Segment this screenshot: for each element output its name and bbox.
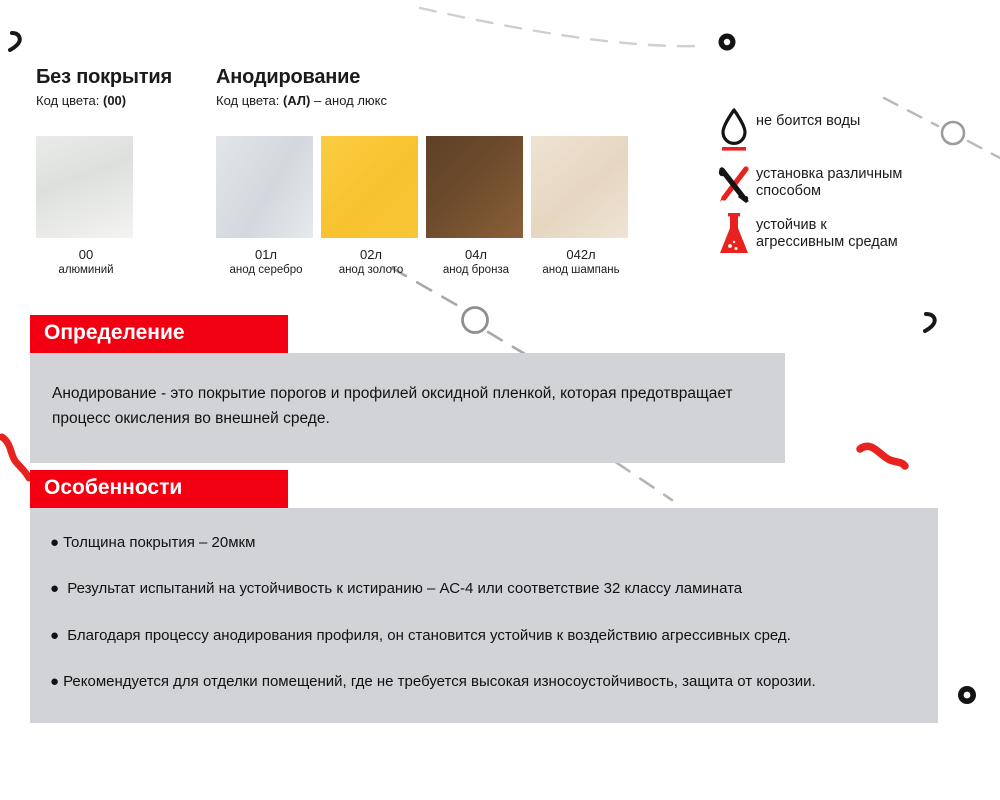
ring-dot-bottom (958, 686, 976, 704)
bullet-icon: ● (50, 534, 59, 551)
swatch-gold-icon (321, 136, 418, 238)
feature-item: ●Толщина покрытия – 20мкм (50, 530, 918, 556)
infographic-page: Без покрытия Код цвета: (00) Анодировани… (0, 0, 1000, 800)
feature-item: ● Результат испытаний на устойчивость к … (50, 576, 918, 602)
swatch-champagne-icon (531, 136, 628, 238)
features-header: Особенности (30, 470, 288, 508)
legend-label: не боится воды (756, 108, 860, 130)
bullet-icon: ● (50, 673, 59, 690)
comma-mark-topleft (10, 33, 20, 50)
group-uncoated: Без покрытия Код цвета: (00) (36, 66, 172, 108)
group-code-label: Код цвета: (216, 93, 279, 108)
swatch-item[interactable]: 042л анод шампань (531, 136, 631, 276)
swatch-silver-icon (216, 136, 313, 238)
water-drop-icon (712, 108, 756, 152)
swatch-item[interactable]: 00 алюминий (36, 136, 136, 276)
group-code-anodized: Код цвета: (АЛ) – анод люкс (216, 93, 387, 108)
swatch-item[interactable]: 02л анод золото (321, 136, 421, 276)
swatch-code: 02л (321, 247, 421, 262)
group-code-suffix: – анод люкс (310, 93, 387, 108)
swatch-bronze-icon (426, 136, 523, 238)
group-title-anodized: Анодирование (216, 66, 387, 89)
group-anodized: Анодирование Код цвета: (АЛ) – анод люкс (216, 66, 387, 108)
comma-mark-right (925, 314, 935, 331)
swatch-name: анод бронза (426, 264, 526, 276)
definition-body: Анодирование - это покрытие порогов и пр… (30, 353, 785, 463)
swatch-item[interactable]: 04л анод бронза (426, 136, 526, 276)
bullet-icon: ● (50, 580, 59, 597)
feature-item: ● Благодаря процессу анодирования профил… (50, 623, 918, 649)
group-code-label: Код цвета: (36, 93, 99, 108)
feature-text: Результат испытаний на устойчивость к ис… (63, 580, 742, 597)
feature-text: Толщина покрытия – 20мкм (63, 534, 255, 551)
ring-gray-right (942, 122, 964, 144)
legend-label: установка различным способом (756, 164, 902, 200)
legend-item-water: не боится воды (712, 108, 860, 152)
group-code-value: (АЛ) (283, 93, 310, 108)
swatch-name: анод золото (321, 264, 421, 276)
swatch-code: 00 (36, 247, 136, 262)
crossed-tools-icon (712, 164, 756, 204)
ring-dot-top (719, 34, 736, 51)
swatch-name: анод серебро (216, 264, 316, 276)
swatch-item[interactable]: 01л анод серебро (216, 136, 316, 276)
swatch-code: 04л (426, 247, 526, 262)
feature-item: ●Рекомендуется для отделки помещений, гд… (50, 669, 918, 695)
legend-label: устойчив к агрессивным средам (756, 213, 898, 251)
dashed-line-right-a (884, 98, 938, 126)
swatch-code: 01л (216, 247, 316, 262)
swatch-row-anodized: 01л анод серебро 02л анод золото 04л ано… (216, 136, 631, 276)
red-squiggle-right (860, 446, 905, 466)
swatch-row-uncoated: 00 алюминий (36, 136, 136, 276)
swatch-aluminium-icon (36, 136, 133, 238)
section-definition: Определение Анодирование - это покрытие … (30, 315, 785, 463)
group-code-value: (00) (103, 93, 126, 108)
definition-header: Определение (30, 315, 288, 353)
swatch-code: 042л (531, 247, 631, 262)
dashed-curve-top (420, 8, 700, 46)
features-body: ●Толщина покрытия – 20мкм ● Результат ис… (30, 508, 938, 723)
dashed-line-right-b (968, 141, 1000, 158)
swatch-name: анод шампань (531, 264, 631, 276)
flask-icon (712, 213, 756, 257)
bullet-icon: ● (50, 627, 59, 644)
swatch-name: алюминий (36, 264, 136, 276)
legend-item-installation: установка различным способом (712, 164, 902, 204)
feature-text: Рекомендуется для отделки помещений, где… (63, 673, 816, 690)
legend-item-chemical: устойчив к агрессивным средам (712, 213, 898, 257)
red-squiggle-left (2, 437, 29, 478)
group-code-uncoated: Код цвета: (00) (36, 93, 172, 108)
group-title-uncoated: Без покрытия (36, 66, 172, 89)
section-features: Особенности ●Толщина покрытия – 20мкм ● … (30, 470, 938, 723)
feature-text: Благодаря процессу анодирования профиля,… (63, 627, 791, 644)
